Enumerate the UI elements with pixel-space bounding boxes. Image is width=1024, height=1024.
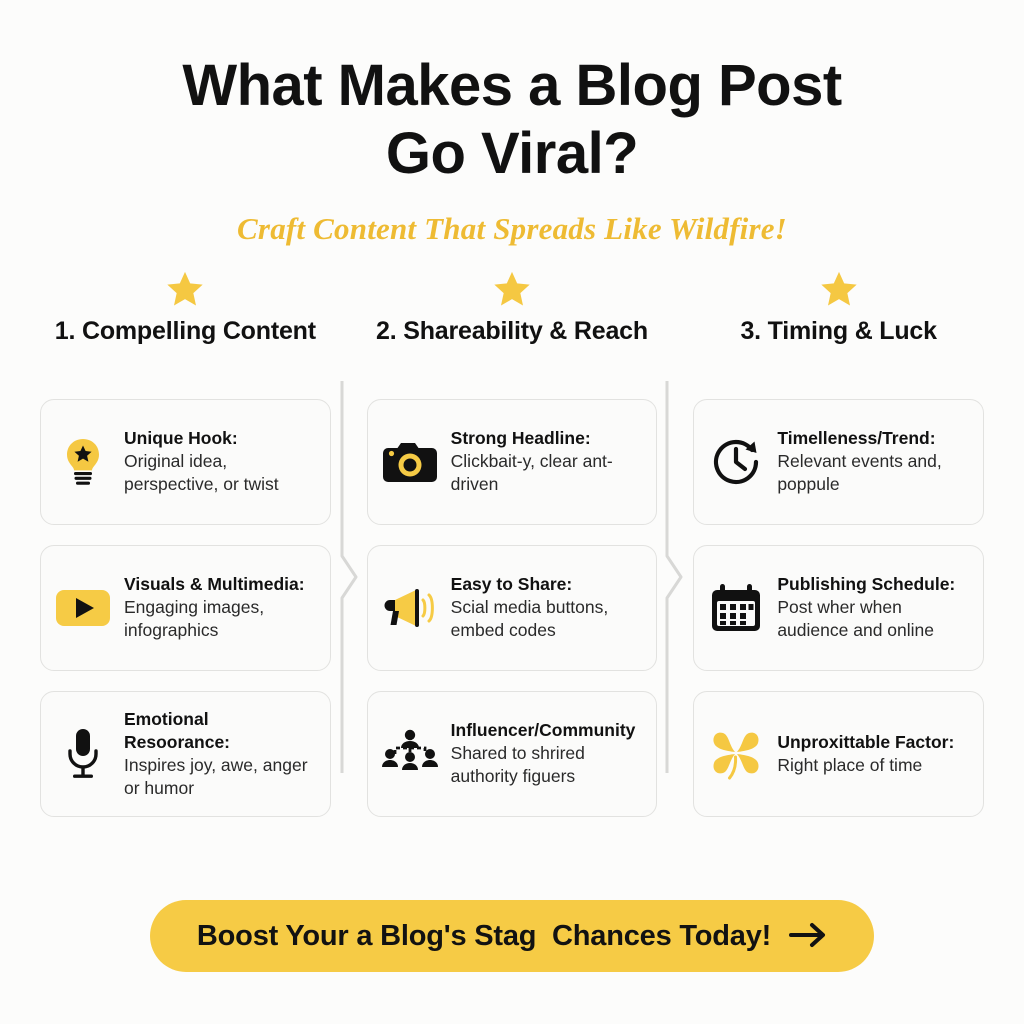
card-label: Unique Hook: (124, 427, 316, 450)
card-publishing-schedule[interactable]: Publishing Schedule: Post wher when audi… (693, 545, 984, 671)
lightbulb-star-icon (55, 434, 111, 490)
page-title: What Makes a Blog Post Go Viral? (82, 52, 942, 189)
video-play-icon (55, 580, 111, 636)
card-unique-hook[interactable]: Unique Hook: Original idea, perspective,… (40, 399, 331, 525)
card-label: Publishing Schedule: (777, 573, 969, 596)
four-leaf-clover-icon (708, 726, 764, 782)
cta-label: Boost Your a Blog's Stag Chances Today! (197, 920, 771, 953)
header: What Makes a Blog Post Go Viral? Craft C… (0, 0, 1024, 247)
card-label: Easy to Share: (451, 573, 643, 596)
card-description: Scial media buttons, embed codes (451, 596, 643, 642)
card-strong-headline[interactable]: Strong Headline: Clickbait-y, clear ant-… (367, 399, 658, 525)
card-description: Shared to shrired authority figuers (451, 742, 643, 788)
infographic-page: What Makes a Blog Post Go Viral? Craft C… (0, 0, 1024, 1024)
card-text: Visuals & Multimedia: Engaging images, i… (124, 573, 316, 642)
card-text: Unique Hook: Original idea, perspective,… (124, 427, 316, 496)
card-label: Visuals & Multimedia: (124, 573, 316, 596)
card-label: Unproxittable Factor: (777, 731, 954, 754)
clock-arrow-icon (708, 434, 764, 490)
title-line-2: Go Viral? (386, 121, 638, 186)
card-text: Easy to Share: Scial media buttons, embe… (451, 573, 643, 642)
star-icon (492, 269, 532, 309)
column-title: 2. Shareability & Reach (376, 315, 648, 385)
card-timeliness-trend[interactable]: Timelleness/Trend: Relevant events and, … (693, 399, 984, 525)
card-list: Unique Hook: Original idea, perspective,… (40, 399, 331, 817)
card-text: Unproxittable Factor: Right place of tim… (777, 731, 954, 777)
calendar-icon (708, 580, 764, 636)
card-label: Emotional Resoorance: (124, 708, 316, 754)
column-divider-2 (661, 381, 687, 773)
card-text: Emotional Resoorance: Inspires joy, awe,… (124, 708, 316, 800)
card-unpredictable-factor[interactable]: Unproxittable Factor: Right place of tim… (693, 691, 984, 817)
column-shareability-reach: 2. Shareability & Reach Strong Headline: (367, 269, 658, 817)
card-emotional-resonance[interactable]: Emotional Resoorance: Inspires joy, awe,… (40, 691, 331, 817)
card-list: Timelleness/Trend: Relevant events and, … (693, 399, 984, 817)
card-label: Strong Headline: (451, 427, 643, 450)
card-description: Relevant events and, poppule (777, 450, 969, 496)
star-icon (165, 269, 205, 309)
card-description: Engaging images, infographics (124, 596, 316, 642)
megaphone-icon (382, 580, 438, 636)
card-text: Influencer/Community Shared to shrired a… (451, 719, 643, 788)
card-label: Influencer/Community (451, 719, 643, 742)
card-text: Publishing Schedule: Post wher when audi… (777, 573, 969, 642)
card-description: Original idea, perspective, or twist (124, 450, 316, 496)
column-title: 3. Timing & Luck (740, 315, 936, 385)
card-description: Right place of time (777, 754, 954, 777)
card-visuals-multimedia[interactable]: Visuals & Multimedia: Engaging images, i… (40, 545, 331, 671)
title-line-1: What Makes a Blog Post (182, 53, 841, 118)
columns-container: 1. Compelling Content Unique Hook: (0, 269, 1024, 817)
arrow-right-icon (789, 922, 827, 951)
card-description: Inspires joy, awe, anger or humor (124, 754, 316, 800)
card-easy-to-share[interactable]: Easy to Share: Scial media buttons, embe… (367, 545, 658, 671)
page-subtitle: Craft Content That Spreads Like Wildfire… (0, 211, 1024, 247)
card-list: Strong Headline: Clickbait-y, clear ant-… (367, 399, 658, 817)
microphone-icon (55, 726, 111, 782)
card-description: Clickbait-y, clear ant-driven (451, 450, 643, 496)
column-divider-1 (336, 381, 362, 773)
column-title: 1. Compelling Content (55, 315, 316, 385)
card-label: Timelleness/Trend: (777, 427, 969, 450)
column-timing-luck: 3. Timing & Luck Timelleness/Trend: Rele… (693, 269, 984, 817)
star-icon (819, 269, 859, 309)
card-text: Timelleness/Trend: Relevant events and, … (777, 427, 969, 496)
card-text: Strong Headline: Clickbait-y, clear ant-… (451, 427, 643, 496)
card-influencer-community[interactable]: Influencer/Community Shared to shrired a… (367, 691, 658, 817)
camera-icon (382, 434, 438, 490)
card-description: Post wher when audience and online (777, 596, 969, 642)
community-network-icon (382, 726, 438, 782)
boost-chances-cta-button[interactable]: Boost Your a Blog's Stag Chances Today! (150, 900, 874, 972)
cta-container: Boost Your a Blog's Stag Chances Today! (0, 900, 1024, 972)
column-compelling-content: 1. Compelling Content Unique Hook: (40, 269, 331, 817)
